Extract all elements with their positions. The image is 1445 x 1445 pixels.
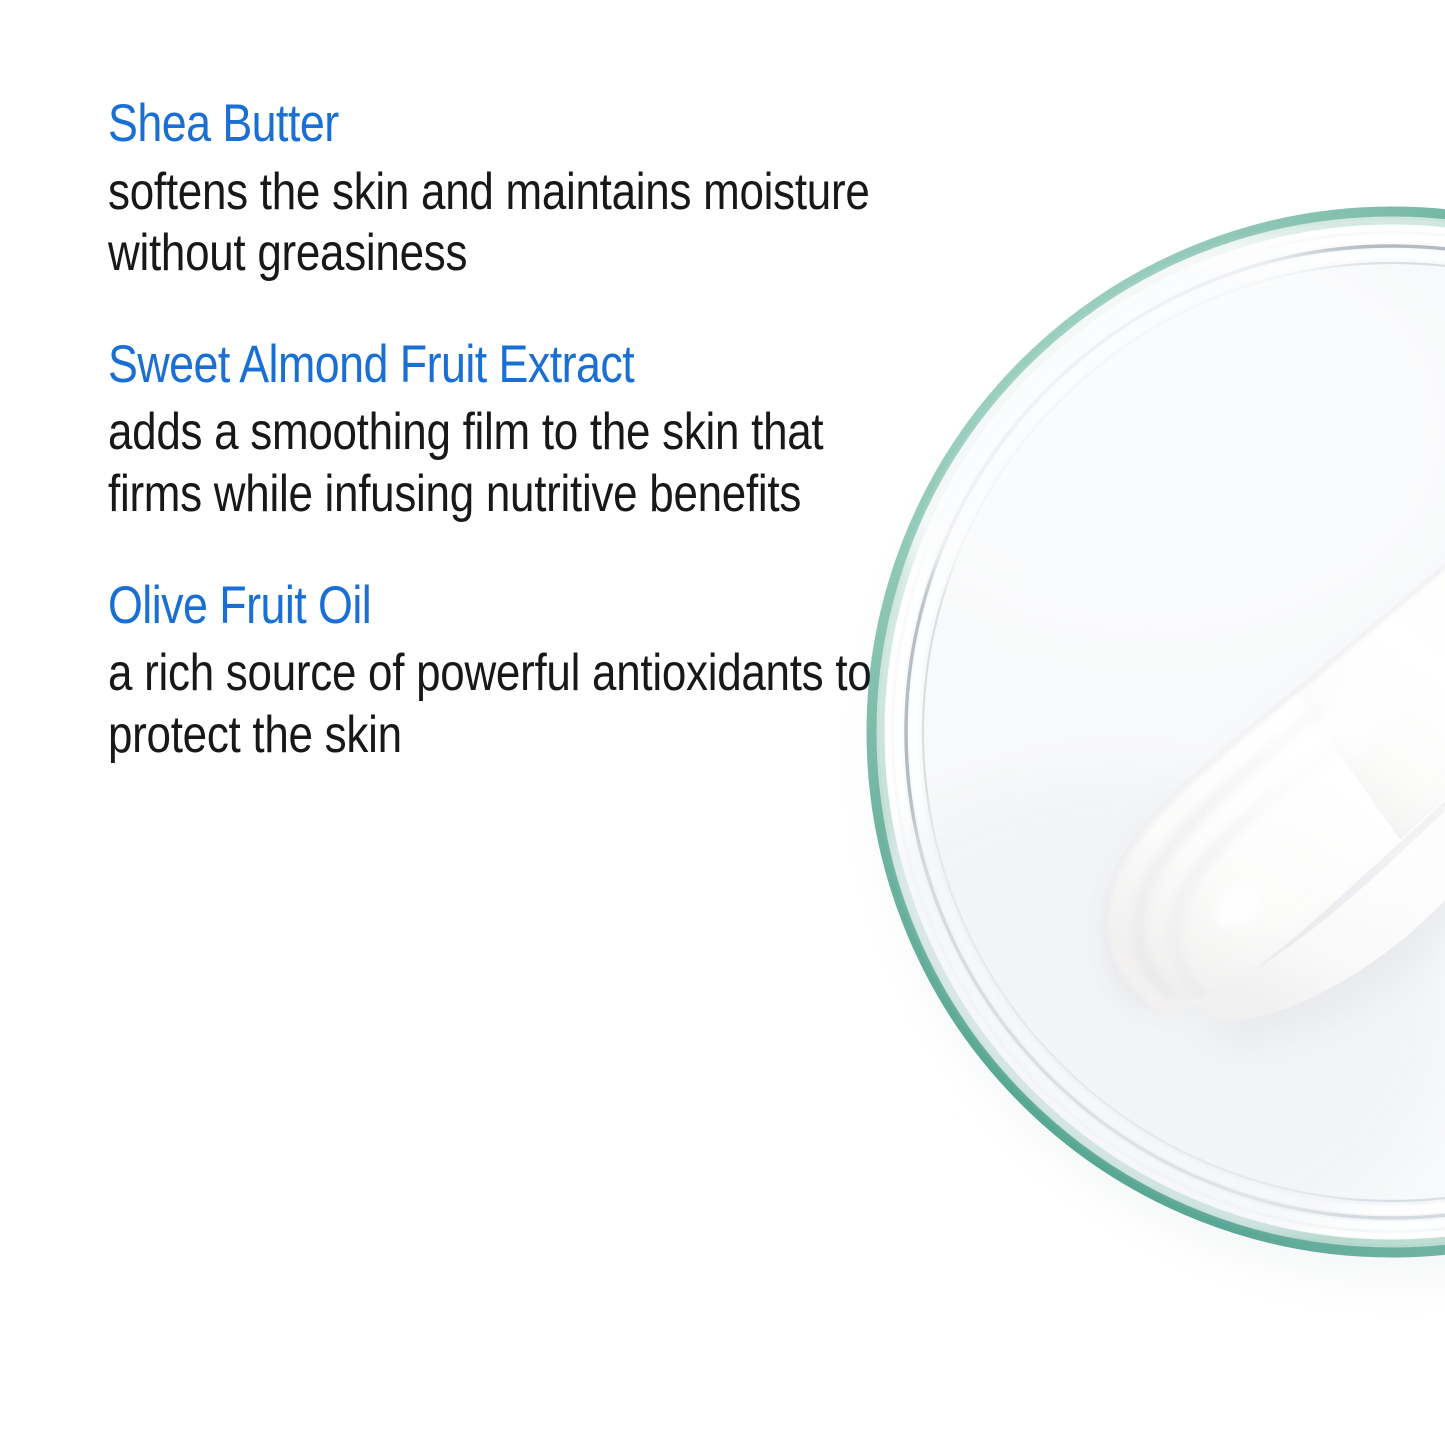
cream-tip-fold-2: [1174, 742, 1340, 1000]
cream-swatch-body: [1106, 505, 1445, 1013]
ingredient-item-shea-butter: Shea Butter softens the skin and maintai…: [108, 92, 878, 285]
cream-swatch-lower-flank: [1192, 666, 1445, 1021]
dish-wall-gloss: [898, 238, 1445, 1226]
ingredient-description-olive-fruit-oil: a rich source of powerful antioxidants t…: [108, 643, 878, 766]
ingredient-name-shea-butter: Shea Butter: [108, 92, 759, 156]
cream-swatch-highlight: [1201, 540, 1445, 935]
product-ingredient-panel: Shea Butter softens the skin and maintai…: [0, 0, 1445, 1445]
ingredient-list: Shea Butter softens the skin and maintai…: [108, 92, 878, 766]
ingredient-description-shea-butter: softens the skin and maintains moisture …: [108, 162, 878, 285]
cream-tip-fold-1: [1138, 710, 1322, 995]
dish-floor-light: [850, 220, 1445, 640]
dish-rim-highlight: [881, 221, 1445, 1243]
ingredient-item-olive-fruit-oil: Olive Fruit Oil a rich source of powerfu…: [108, 574, 878, 767]
dish-outer-rim-overlay: [873, 213, 1445, 1251]
dish-inner-gloss: [914, 254, 1445, 1210]
ingredient-description-sweet-almond-fruit-extract: adds a smoothing film to the skin that f…: [108, 402, 878, 525]
ingredient-name-sweet-almond-fruit-extract: Sweet Almond Fruit Extract: [108, 333, 759, 397]
dish-outer-rim: [873, 213, 1445, 1251]
cream-swatch-shadow: [1118, 560, 1445, 996]
dish-ambient-shadow: [876, 238, 1445, 1282]
dish-glass-body: [891, 231, 1445, 1233]
cream-contact-shadow: [1200, 730, 1445, 1043]
ingredient-name-olive-fruit-oil: Olive Fruit Oil: [108, 574, 759, 638]
dish-rim-gloss: [888, 228, 1445, 1236]
cream-swatch-edge-upper: [1106, 470, 1445, 1000]
ingredient-item-sweet-almond-fruit-extract: Sweet Almond Fruit Extract adds a smooth…: [108, 333, 878, 526]
dish-inner-wall-line: [906, 246, 1445, 1218]
dish-floor: [925, 265, 1445, 1199]
dish-floor-edge-line: [923, 263, 1445, 1201]
dish-floor-shade: [790, 770, 1445, 1270]
cream-swatch-tail: [1296, 505, 1445, 840]
cream-specular-highlight: [1207, 877, 1269, 936]
